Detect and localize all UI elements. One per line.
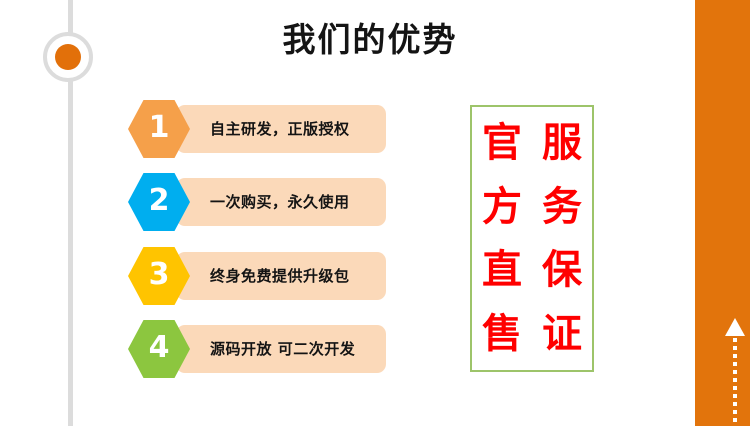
advantage-label-3: 终身免费提供升级包 bbox=[210, 252, 386, 300]
guarantee-row-4: 售 证 bbox=[472, 314, 592, 354]
advantage-item-2: 一次购买，永久使用 2 bbox=[128, 173, 386, 231]
advantage-number-1: 1 bbox=[149, 113, 170, 145]
guarantee-char-2-left: 方 bbox=[482, 187, 522, 227]
guarantee-char-4-left: 售 bbox=[482, 314, 522, 354]
advantage-label-4: 源码开放 可二次开发 bbox=[210, 325, 386, 373]
up-arrow-dashed-shaft-icon bbox=[733, 338, 737, 426]
advantage-label-2: 一次购买，永久使用 bbox=[210, 178, 386, 226]
guarantee-char-3-left: 直 bbox=[482, 250, 522, 290]
advantage-number-2: 2 bbox=[149, 186, 170, 218]
advantage-item-1: 自主研发，正版授权 1 bbox=[128, 100, 386, 158]
guarantee-char-2-right: 务 bbox=[542, 187, 582, 227]
advantage-number-3: 3 bbox=[149, 260, 170, 292]
guarantee-char-1-right: 服 bbox=[542, 123, 582, 163]
timeline-marker-dot-icon bbox=[55, 44, 81, 70]
advantage-item-3: 终身免费提供升级包 3 bbox=[128, 247, 386, 305]
slide-canvas: 我们的优势 自主研发，正版授权 1 一次购买，永久使用 2 终身免费提供升级包 … bbox=[0, 0, 750, 426]
right-accent-bar bbox=[695, 0, 750, 426]
guarantee-row-2: 方 务 bbox=[472, 187, 592, 227]
advantage-label-1: 自主研发，正版授权 bbox=[210, 105, 386, 153]
guarantee-row-3: 直 保 bbox=[472, 250, 592, 290]
page-title: 我们的优势 bbox=[205, 22, 535, 58]
guarantee-char-3-right: 保 bbox=[542, 250, 582, 290]
advantage-number-4: 4 bbox=[149, 333, 170, 365]
guarantee-char-1-left: 官 bbox=[482, 123, 522, 163]
guarantee-box: 官 服 方 务 直 保 售 证 bbox=[470, 105, 594, 372]
advantage-item-4: 源码开放 可二次开发 4 bbox=[128, 320, 386, 378]
guarantee-char-4-right: 证 bbox=[542, 314, 582, 354]
up-arrow-icon bbox=[725, 318, 745, 336]
guarantee-row-1: 官 服 bbox=[472, 123, 592, 163]
